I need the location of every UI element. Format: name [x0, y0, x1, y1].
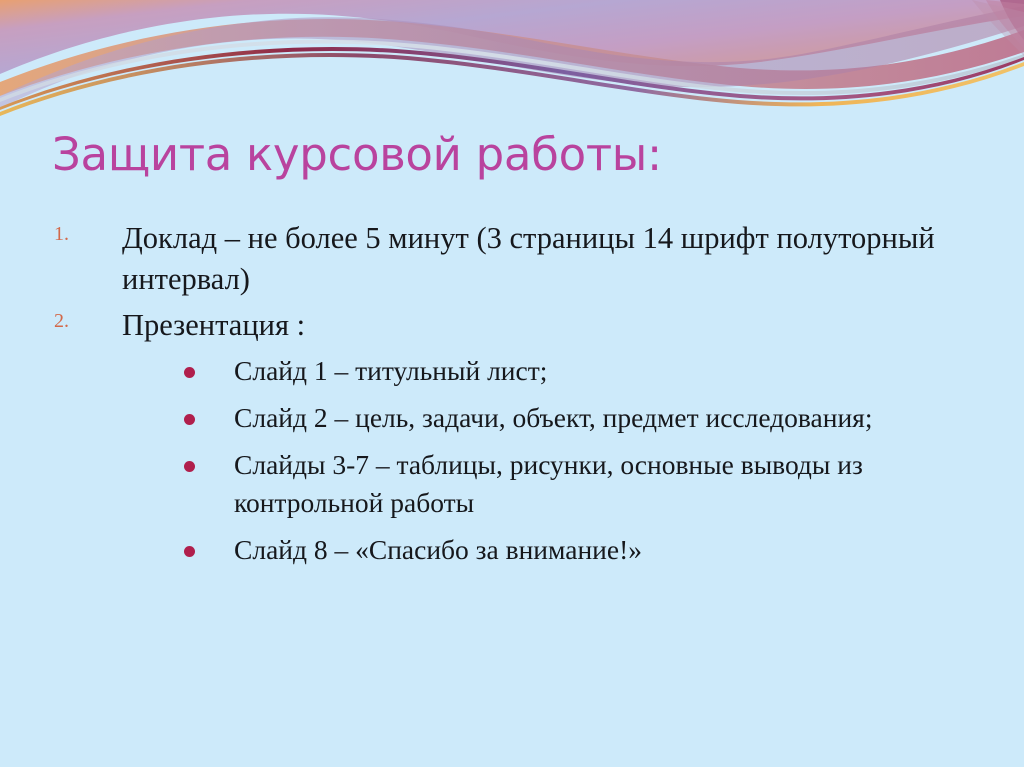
sub-list-item-1: Слайд 1 – титульный лист;	[122, 352, 998, 390]
list-item-1-number: 1.	[54, 224, 94, 244]
slide-title: Защита курсовой работы:	[52, 128, 972, 181]
sub-list-item-4: Слайд 8 – «Спасибо за внимание!»	[122, 531, 998, 569]
bullet-dot-icon	[184, 546, 195, 557]
bullet-dot-icon	[184, 414, 195, 425]
sub-list-item-2: Слайд 2 – цель, задачи, объект, предмет …	[122, 399, 998, 437]
list-item-2-number: 2.	[54, 311, 94, 331]
presentation-slide: Защита курсовой работы: 1. Доклад – не б…	[0, 0, 1024, 767]
sub-list-item-3: Слайды 3-7 – таблицы, рисунки, основные …	[122, 446, 998, 522]
list-item-2: 2. Презентация : Слайд 1 – титульный лис…	[48, 305, 998, 569]
bullet-dot-icon	[184, 367, 195, 378]
sub-list-item-2-text: Слайд 2 – цель, задачи, объект, предмет …	[234, 399, 998, 437]
list-item-1: 1. Доклад – не более 5 минут (3 страницы…	[48, 218, 998, 300]
list-item-2-sublist: Слайд 1 – титульный лист; Слайд 2 – цель…	[122, 352, 998, 569]
sub-list-item-1-text: Слайд 1 – титульный лист;	[234, 352, 998, 390]
slide-body-list: 1. Доклад – не более 5 минут (3 страницы…	[48, 218, 998, 578]
sub-list-item-4-text: Слайд 8 – «Спасибо за внимание!»	[234, 531, 998, 569]
header-wave-ribbon-decoration	[0, 0, 1024, 118]
bullet-dot-icon	[184, 461, 195, 472]
list-item-2-text: Презентация :	[122, 305, 998, 346]
list-item-1-text: Доклад – не более 5 минут (3 страницы 14…	[122, 218, 998, 300]
sub-list-item-3-text: Слайды 3-7 – таблицы, рисунки, основные …	[234, 446, 998, 522]
